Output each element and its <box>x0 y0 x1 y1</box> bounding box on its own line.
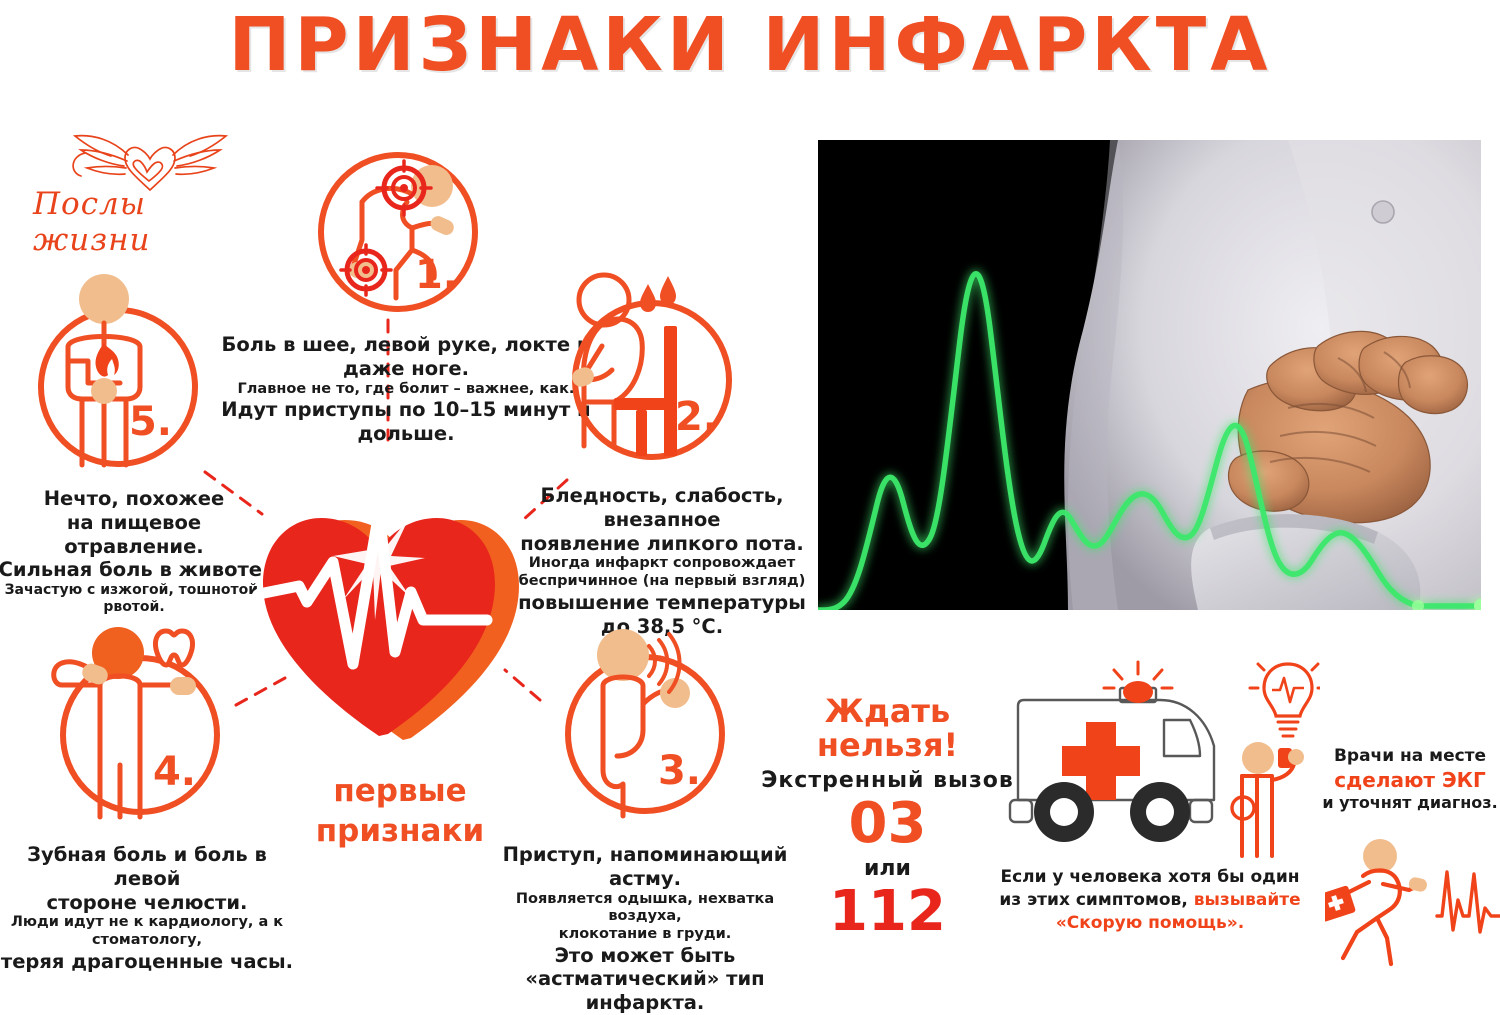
target-marker-leg <box>341 245 391 295</box>
symptom-2-line3: Иногда инфаркт сопровождает <box>512 555 812 573</box>
symptom-number-4: 4. <box>153 749 196 795</box>
symptom-number-3: 3. <box>658 748 701 794</box>
person-toothache-icon <box>66 661 226 821</box>
person-stomach-burn-icon <box>44 313 204 473</box>
doctors-line1: Врачи на месте <box>1320 745 1500 767</box>
emergency-call-label: Экстренный вызов <box>760 768 1015 793</box>
ecg-line-icon <box>1437 872 1500 932</box>
symptom-5-line2: на пищевое отравление. <box>0 511 274 559</box>
heart-ecg-icon <box>243 452 533 762</box>
symptom-text-5: Нечто, похожее на пищевое отравление. Си… <box>0 487 274 616</box>
symptom-5-line1: Нечто, похожее <box>0 487 274 511</box>
person-calling-icon <box>1232 742 1304 856</box>
symptom-number-1: 1. <box>415 252 458 298</box>
symptom-4-line4: теряя драгоценные часы. <box>0 950 302 974</box>
symptom-1-line2: Главное не то, где болит – важнее, как. <box>196 381 616 399</box>
tooth-icon <box>155 631 192 665</box>
page-title: ПРИЗНАКИ ИНФАРКТА <box>0 8 1500 82</box>
emergency-number-primary[interactable]: 03 <box>760 795 1015 854</box>
symptom-3-line5: «астматический» тип инфаркта. <box>480 967 810 1015</box>
person-sitting-sweat-icon <box>578 306 738 466</box>
symptom-2-line2: появление липкого пота. <box>512 532 812 556</box>
person-pain-targets-icon <box>324 158 484 318</box>
symptom-4-line1: Зубная боль и боль в левой <box>0 843 302 891</box>
symptom-icon-3[interactable]: 3. <box>565 654 725 814</box>
sweat-drop-icon <box>640 276 676 312</box>
ambulance-text: Если у человека хотя бы один из этих сим… <box>985 866 1315 935</box>
symptom-1-line3: Идут приступы по 10–15 минут и дольше. <box>196 398 616 446</box>
runner-graphic <box>1325 838 1500 993</box>
ambulance-text-highlight2: «Скорую помощь». <box>1056 913 1244 933</box>
doctors-line3: и уточнят диагноз. <box>1320 793 1500 814</box>
symptom-5-line4: Зачастую с изжогой, тошнотой, рвотой. <box>0 582 274 616</box>
symptom-2-line1: Бледность, слабость, внезапное <box>512 484 812 532</box>
heart-graphic <box>243 452 533 762</box>
symptom-5-line3: Сильная боль в животе. <box>0 558 274 582</box>
symptom-icon-5[interactable]: 5. <box>38 307 198 467</box>
person-asthma-inhaler-icon <box>571 660 731 820</box>
symptom-1-line1: Боль в шее, левой руке, локте и даже ног… <box>196 333 616 381</box>
ambulance-graphic <box>1000 660 1320 860</box>
chair-icon <box>614 326 677 456</box>
doctors-text: Врачи на месте сделают ЭКГ и уточнят диа… <box>1320 745 1500 814</box>
symptom-text-2: Бледность, слабость, внезапное появление… <box>512 484 812 638</box>
center-label-line2: признаки <box>300 812 500 852</box>
flame-icon <box>95 343 118 377</box>
ambulance-text-line2: из этих симптомов, <box>999 890 1193 910</box>
center-label-line1: первые <box>300 772 500 812</box>
doctors-line2: сделают ЭКГ <box>1320 767 1500 793</box>
logo-text: Послы жизни <box>33 186 273 258</box>
symptom-icon-1[interactable]: 1. <box>318 152 478 312</box>
emergency-call-block: Ждать нельзя! Экстренный вызов 03 или 11… <box>760 695 1015 942</box>
photo-chest-pain <box>818 140 1481 610</box>
symptom-3-line4: Это может быть <box>480 944 810 968</box>
symptom-2-line5: повышение температуры до 38,5 °C. <box>512 591 812 639</box>
logo: Послы жизни <box>25 128 275 243</box>
ambulance-text-line1: Если у человека хотя бы один <box>1000 867 1299 887</box>
symptom-text-1: Боль в шее, левой руке, локте и даже ног… <box>196 333 616 446</box>
symptom-icon-2[interactable]: 2. <box>572 300 732 460</box>
infographic-root: ПРИЗНАКИ ИНФАРКТА Послы жизни <box>0 0 1500 1000</box>
emergency-conjunction: или <box>760 856 1015 881</box>
photo-content <box>818 140 1481 610</box>
emergency-number-secondary[interactable]: 112 <box>760 883 1015 942</box>
symptom-4-line3: Люди идут не к кардиологу, а к стоматоло… <box>0 914 302 949</box>
symptom-number-5: 5. <box>129 399 172 445</box>
running-medic-icon <box>1325 838 1500 993</box>
siren-icon <box>1123 681 1153 703</box>
emergency-headline: Ждать нельзя! <box>760 695 1015 762</box>
symptom-2-line4: беспричинное (на первый взгляд) <box>512 573 812 591</box>
lightbulb-ecg-icon <box>1250 660 1320 736</box>
symptom-4-line2: стороне челюсти. <box>0 891 302 915</box>
symptom-number-2: 2. <box>675 394 718 440</box>
symptom-text-4: Зубная боль и боль в левой стороне челюс… <box>0 843 302 974</box>
symptom-icon-4[interactable]: 4. <box>60 655 220 815</box>
ambulance-text-highlight1: вызывайте <box>1194 890 1301 910</box>
ambulance-icon <box>1000 660 1320 860</box>
center-label: первые признаки <box>300 772 500 851</box>
